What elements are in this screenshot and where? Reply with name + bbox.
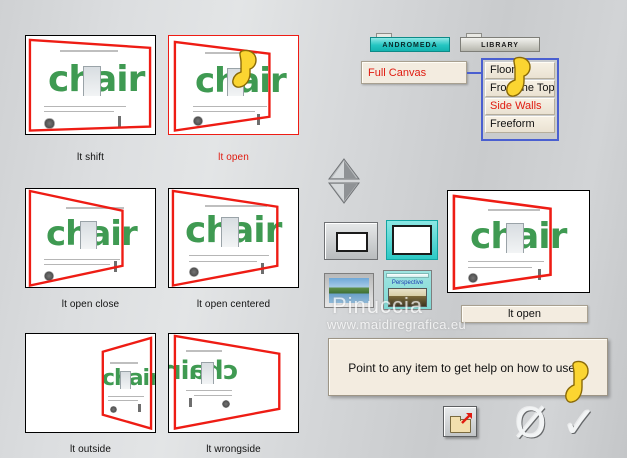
preset-thumbnail-lt-open-close[interactable]: chair [25, 188, 156, 288]
preset-caption-lt-wrongside: lt wrongside [168, 444, 299, 455]
preset-thumbnail-lt-open[interactable]: chair [168, 35, 299, 135]
preset-thumbnail-lt-shift[interactable]: chair [25, 35, 156, 135]
perspective-outline [169, 189, 298, 287]
menu-item-from-the-top[interactable]: From the Top [485, 80, 555, 97]
cancel-button[interactable]: Ø [515, 404, 546, 444]
preset-thumbnail-lt-open-centered[interactable]: chair [168, 188, 299, 288]
preset-thumbnail-lt-wrongside[interactable]: chair [168, 333, 299, 433]
preset-caption-lt-open: lt open [168, 152, 299, 163]
andromeda-perspective-window: chair lt shift chair [0, 0, 627, 458]
perspective-outline [169, 334, 298, 432]
perspective-outline [26, 36, 155, 134]
preset-caption-lt-outside: lt outside [25, 444, 156, 455]
menu-connector-line [467, 72, 482, 74]
preset-caption-lt-shift: lt shift [25, 152, 156, 163]
menu-item-side-walls[interactable]: Side Walls [485, 98, 555, 115]
photo-thumbnail[interactable] [324, 273, 374, 308]
preset-caption-lt-open-centered: lt open centered [168, 299, 299, 310]
perspective-type-menu: Floors From the Top Side Walls Freeform [481, 58, 559, 141]
perspective-thumbnail-title: Perspective [386, 280, 429, 286]
view-mode-large-button[interactable] [386, 220, 438, 260]
stepper-down-button[interactable] [328, 182, 360, 204]
tab-andromeda[interactable]: ANDROMEDA [370, 37, 450, 52]
full-canvas-label: Full Canvas [368, 67, 426, 79]
perspective-thumbnail-image [388, 288, 427, 307]
preset-thumbnail-lt-outside[interactable]: chair [25, 333, 156, 433]
perspective-outline [26, 334, 155, 432]
perspective-outline [26, 189, 155, 287]
perspective-thumbnail-titlebar [386, 273, 429, 278]
photo-thumbnail-image [329, 278, 369, 303]
help-message: Point to any item to get help on how to … [329, 361, 607, 375]
preset-caption-lt-open-close: lt open close [25, 299, 156, 310]
view-mode-small-icon [336, 232, 368, 252]
open-folder-button[interactable] [443, 406, 477, 437]
tab-bar: ANDROMEDA LIBRARY [370, 36, 540, 54]
help-box: Point to any item to get help on how to … [328, 338, 608, 396]
view-mode-small-button[interactable] [324, 222, 378, 260]
preview-value-label: lt open [461, 305, 588, 323]
view-mode-large-icon [392, 225, 432, 255]
apply-button[interactable]: ✓ [562, 402, 597, 444]
perspective-outline [169, 36, 298, 134]
export-arrow-icon [460, 411, 474, 425]
full-canvas-selector[interactable]: Full Canvas [361, 61, 467, 84]
watermark-url: www.maidiregrafica.eu [327, 317, 466, 332]
menu-item-freeform[interactable]: Freeform [485, 116, 555, 133]
stepper-up-button[interactable] [328, 158, 360, 180]
tab-library[interactable]: LIBRARY [460, 37, 540, 52]
perspective-outline [448, 191, 589, 293]
large-preview[interactable]: chair [447, 190, 590, 293]
perspective-thumbnail[interactable]: Perspective [383, 270, 432, 310]
menu-item-floors[interactable]: Floors [485, 62, 555, 79]
